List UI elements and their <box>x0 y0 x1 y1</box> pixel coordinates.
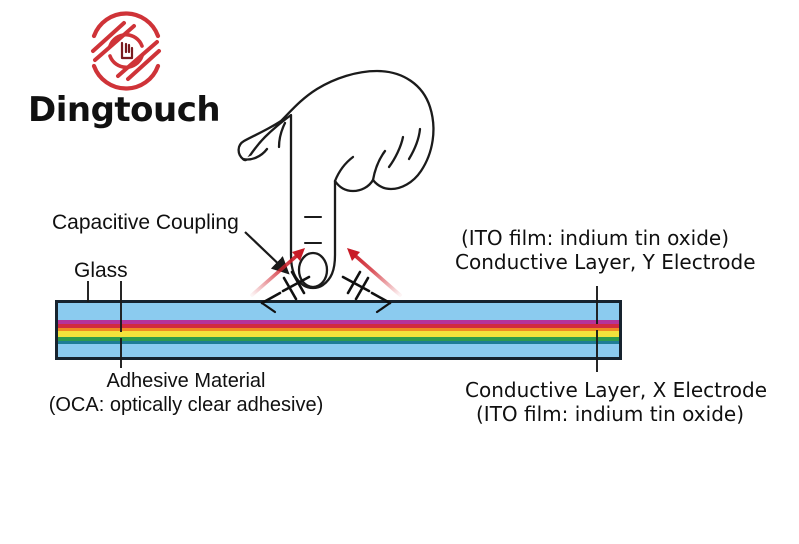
label-y-electrode: (ITO film: indium tin oxide) Conductive … <box>455 226 756 275</box>
layer-cover-glass <box>58 303 619 320</box>
touch-panel-stack <box>55 300 622 360</box>
layer-base-glass <box>58 344 619 358</box>
label-x-electrode-line1: Conductive Layer, X Electrode <box>465 378 767 402</box>
label-x-electrode: Conductive Layer, X Electrode (ITO film:… <box>465 378 755 427</box>
brand-wordmark: Dingtouch <box>28 90 220 130</box>
pointing-hand-icon <box>225 55 455 305</box>
fingerprint-swirl-icon <box>80 10 172 92</box>
label-y-electrode-line2: Conductive Layer, Y Electrode <box>455 250 756 274</box>
label-adhesive-material: Adhesive Material (OCA: optically clear … <box>36 369 336 418</box>
brand-logo: Dingtouch <box>28 8 258 130</box>
diagram-canvas: Dingtouch <box>0 0 799 544</box>
label-glass: Glass <box>74 258 128 284</box>
label-adhesive-line2: (OCA: optically clear adhesive) <box>36 393 336 417</box>
label-x-electrode-line2: (ITO film: indium tin oxide) <box>465 402 755 426</box>
label-adhesive-line1: Adhesive Material <box>107 370 266 392</box>
label-capacitive-coupling: Capacitive Coupling <box>52 210 239 236</box>
glass-leader-lines <box>88 281 121 302</box>
label-y-electrode-line1: (ITO film: indium tin oxide) <box>455 226 756 250</box>
